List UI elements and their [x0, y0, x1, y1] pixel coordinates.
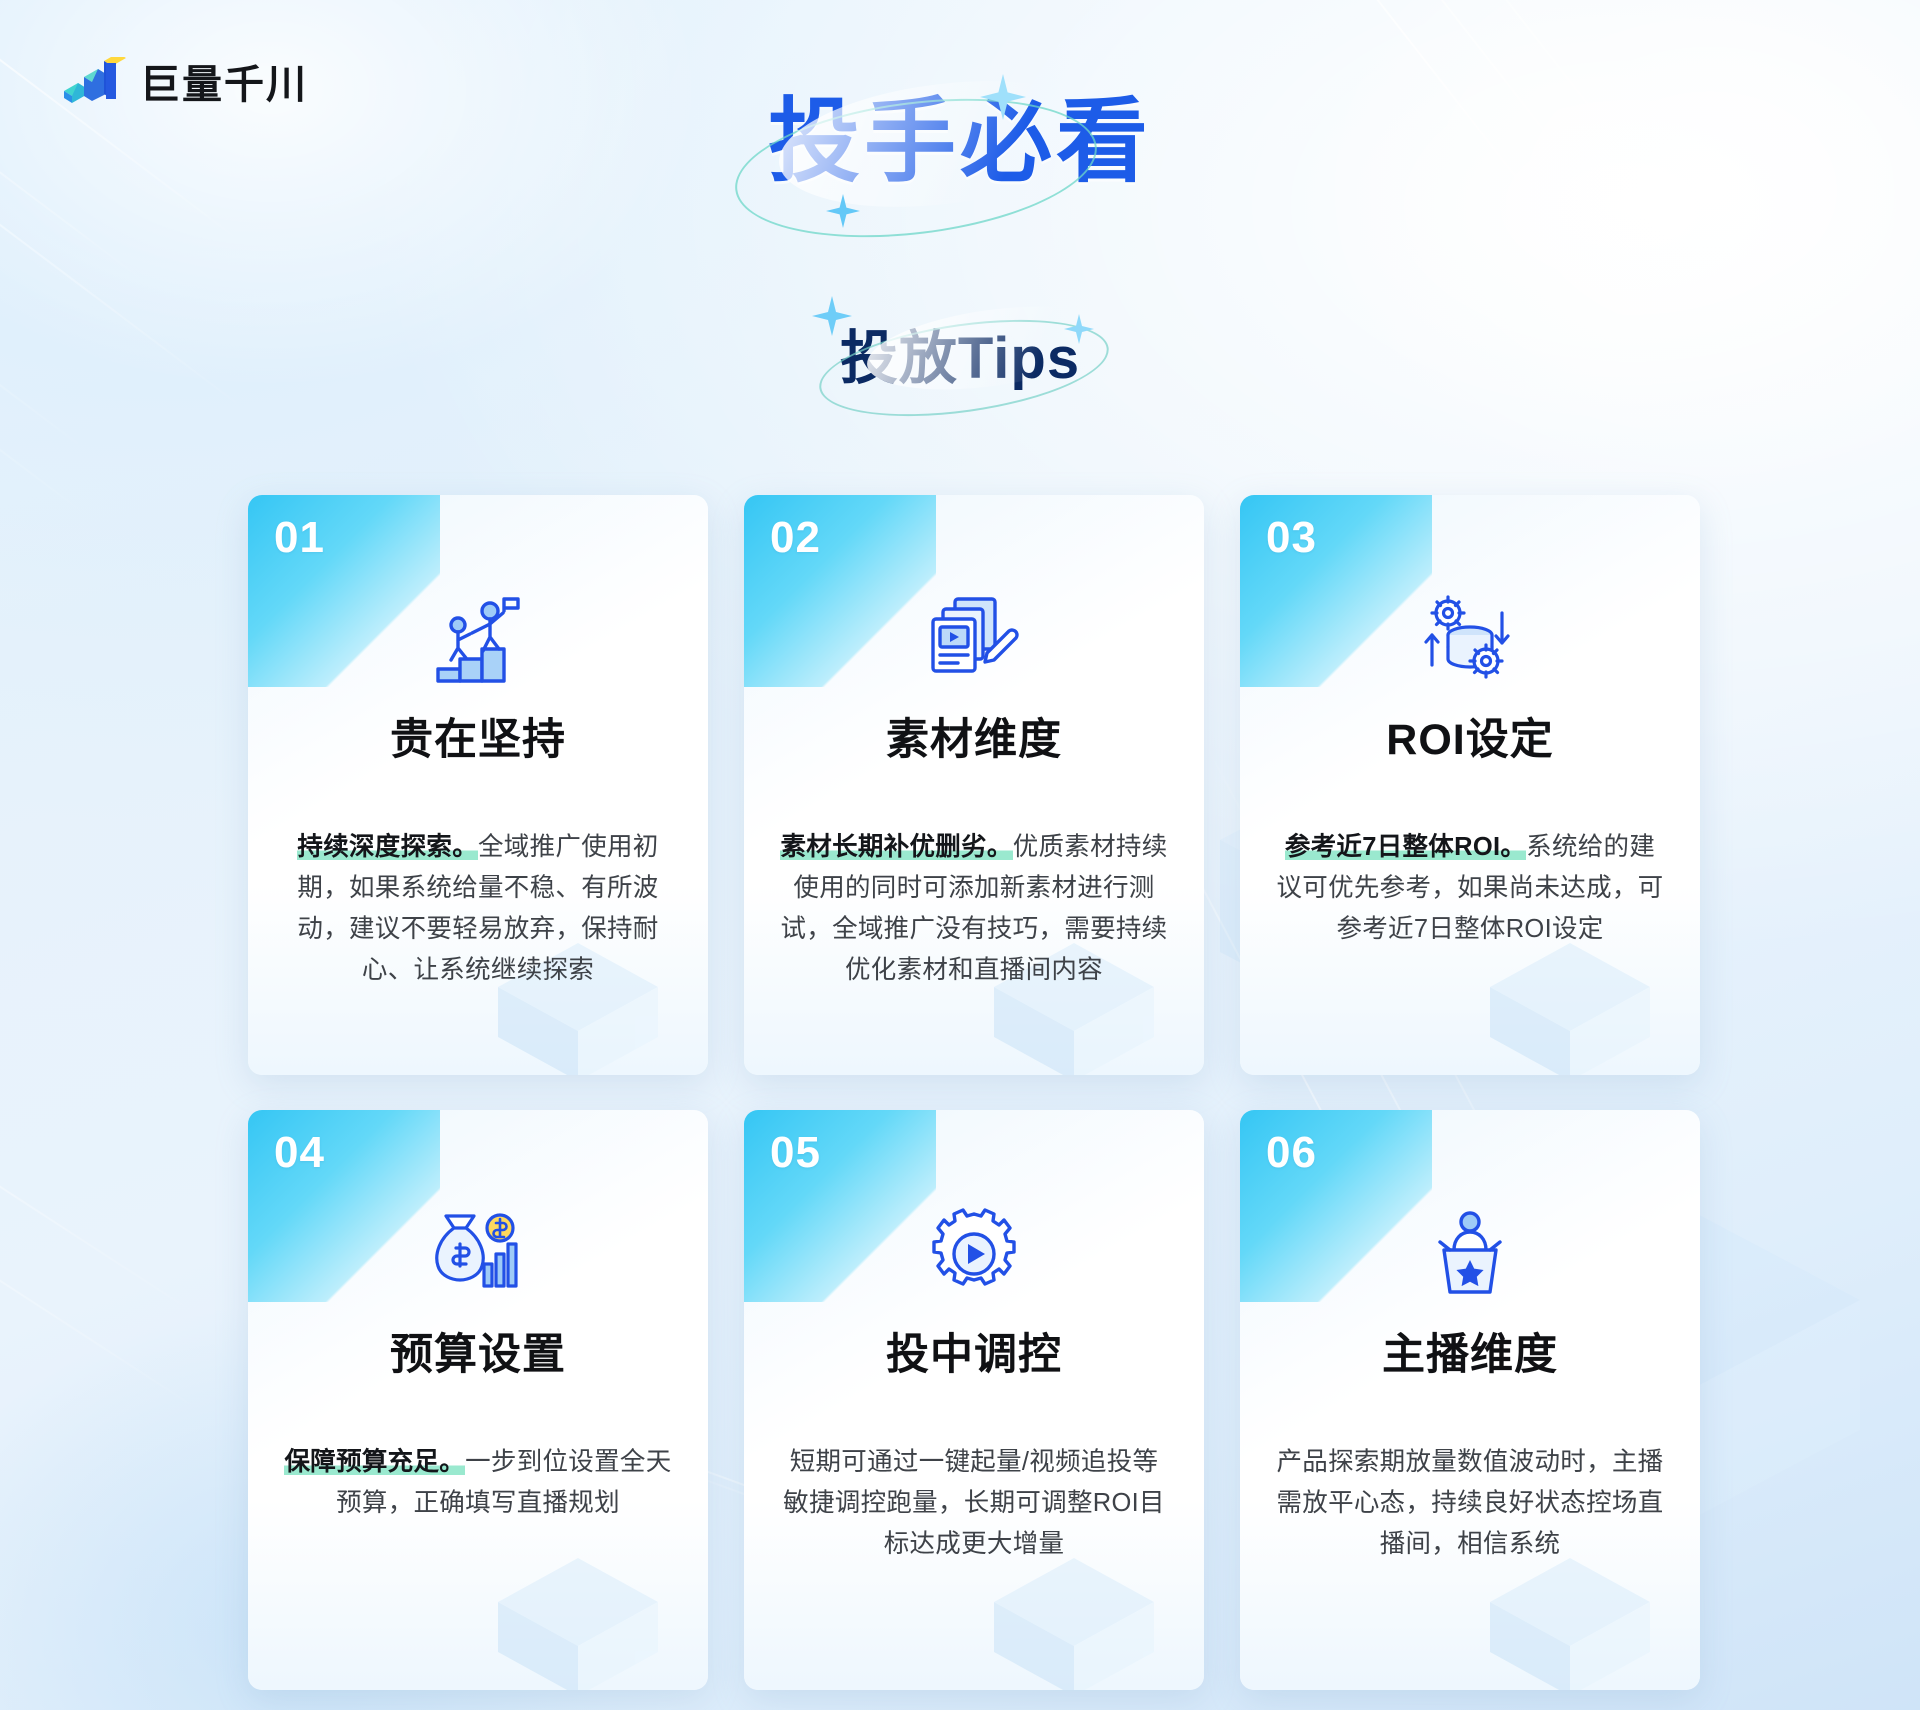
- card-title: ROI设定: [1386, 705, 1553, 767]
- card-body: 素材长期补优删劣。优质素材持续使用的同时可添加新素材进行测试，全域推广没有技巧，…: [778, 827, 1170, 992]
- people-climbing-stairs-icon: [424, 587, 532, 691]
- card-lead: 保障预算充足。: [284, 1448, 465, 1476]
- card-lead: 持续深度探索。: [297, 833, 478, 861]
- video-documents-edit-icon: [925, 587, 1023, 691]
- card-body: 产品探索期放量数值波动时，主播需放平心态，持续良好状态控场直播间，相信系统: [1274, 1442, 1666, 1566]
- money-bag-chart-icon: [426, 1202, 530, 1306]
- tip-card-02[interactable]: 02 素材维度 素材长期补优删劣。优质素材持续使用的同时可添加新素材进行测试，全…: [744, 495, 1204, 1075]
- card-lead: 素材长期补优删劣。: [780, 833, 1012, 861]
- card-body: 参考近7日整体ROI。系统给的建议可优先参考，如果尚未达成，可参考近7日整体RO…: [1274, 827, 1666, 951]
- tip-card-01[interactable]: 01 贵在坚持 持续深度探索。全域推广使用初期，如果系统给量不稳: [248, 495, 708, 1075]
- gear-play-icon: [924, 1202, 1024, 1306]
- tip-card-06[interactable]: 06 主播维度 产品探索期放量数值波动时，主播需放平心态，持续良好状态控场直播间…: [1240, 1110, 1700, 1690]
- card-text: 产品探索期放量数值波动时，主播需放平心态，持续良好状态控场直播间，相信系统: [1276, 1448, 1663, 1559]
- card-title: 贵在坚持: [390, 705, 566, 767]
- subtitle-area: 投放Tips: [0, 330, 1920, 388]
- card-text: 短期可通过一键起量/视频追投等敏捷调控跑量，长期可调整ROI目标达成更大增量: [783, 1448, 1165, 1559]
- card-title: 素材维度: [886, 705, 1062, 767]
- card-body: 持续深度探索。全域推广使用初期，如果系统给量不稳、有所波动，建议不要轻易放弃，保…: [282, 827, 674, 992]
- tip-card-04[interactable]: 04 预算设置 保障预算充足。一步到位设置全天预算，正确填写直播: [248, 1110, 708, 1690]
- page-title: 投手必看: [768, 96, 1152, 188]
- anchor-podium-star-icon: [1422, 1202, 1518, 1306]
- card-lead: 参考近7日整体ROI。: [1285, 833, 1526, 861]
- card-body: 短期可通过一键起量/视频追投等敏捷调控跑量，长期可调整ROI目标达成更大增量: [778, 1442, 1170, 1566]
- card-title: 投中调控: [886, 1320, 1062, 1382]
- tip-card-05[interactable]: 05 投中调控 短期可通过一键起量/视频追投等敏捷调控跑量，长期可调整ROI目标…: [744, 1110, 1204, 1690]
- headline-area: 投手必看: [0, 96, 1920, 188]
- gears-coins-cycle-icon: [1418, 587, 1522, 691]
- card-title: 主播维度: [1382, 1320, 1558, 1382]
- card-body: 保障预算充足。一步到位设置全天预算，正确填写直播规划: [282, 1442, 674, 1525]
- tips-card-grid: 01 贵在坚持 持续深度探索。全域推广使用初期，如果系统给量不稳: [248, 495, 1700, 1690]
- tip-card-03[interactable]: 03 RO: [1240, 495, 1700, 1075]
- card-title: 预算设置: [390, 1320, 566, 1382]
